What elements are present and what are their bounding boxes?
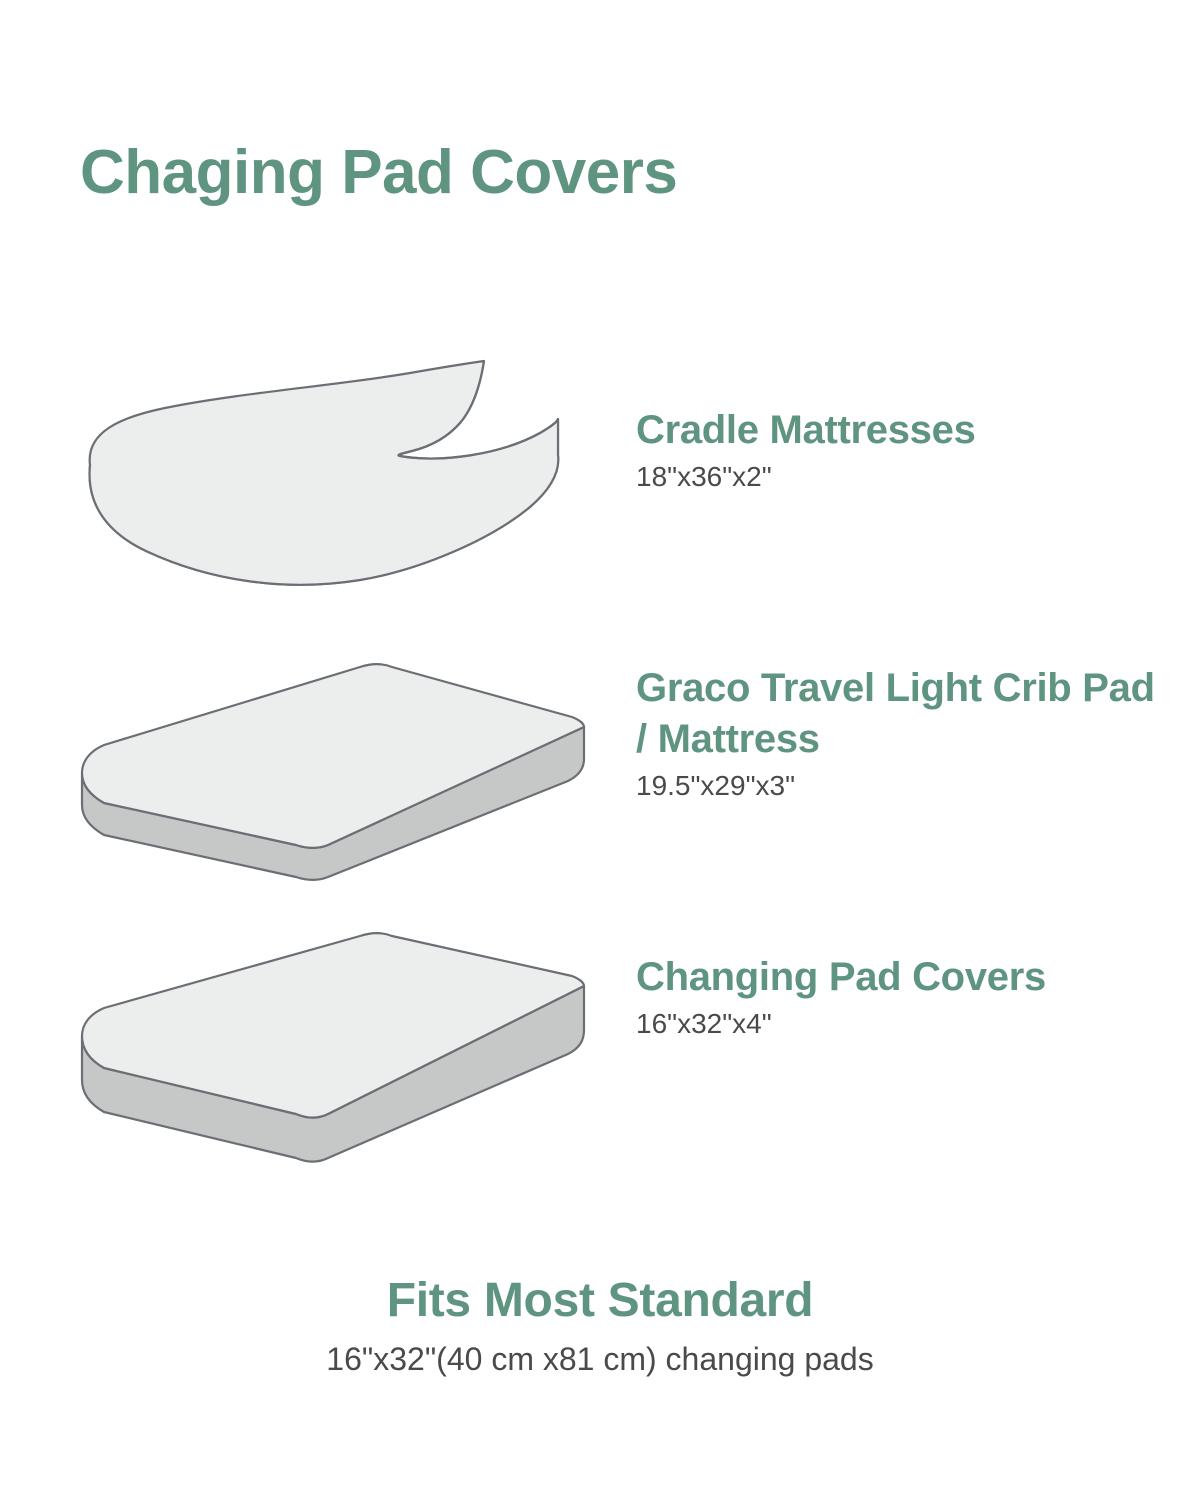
flat-thin-mattress-illustration [60,655,620,925]
list-item: Cradle Mattresses 18"x36"x2" [0,355,1200,655]
page-title: Chaging Pad Covers [80,140,677,205]
footer-headline: Fits Most Standard [0,1272,1200,1330]
item-title: Graco Travel Light Crib Pad / Mattress [636,663,1176,765]
item-dimensions: 19.5"x29"x3" [636,769,1176,803]
contoured-changing-pad-illustration [60,355,620,625]
list-item-text: Graco Travel Light Crib Pad / Mattress 1… [636,655,1176,933]
product-list: Cradle Mattresses 18"x36"x2" Graco Trave… [0,355,1200,1200]
footer-subline: 16"x32"(40 cm x81 cm) changing pads [0,1340,1200,1378]
flat-thick-mattress-illustration [60,930,620,1200]
footer: Fits Most Standard 16"x32"(40 cm x81 cm)… [0,1272,1200,1378]
list-item-text: Cradle Mattresses 18"x36"x2" [636,355,1176,675]
list-item: Changing Pad Covers 16"x32"x4" [0,930,1200,1200]
item-dimensions: 16"x32"x4" [636,1007,1176,1041]
item-title: Cradle Mattresses [636,405,1176,456]
infographic-page: Chaging Pad Covers Cradle Mattresses 18"… [0,0,1200,1500]
item-title: Changing Pad Covers [636,952,1176,1003]
item-dimensions: 18"x36"x2" [636,460,1176,494]
list-item-text: Changing Pad Covers 16"x32"x4" [636,930,1176,1222]
list-item: Graco Travel Light Crib Pad / Mattress 1… [0,655,1200,930]
